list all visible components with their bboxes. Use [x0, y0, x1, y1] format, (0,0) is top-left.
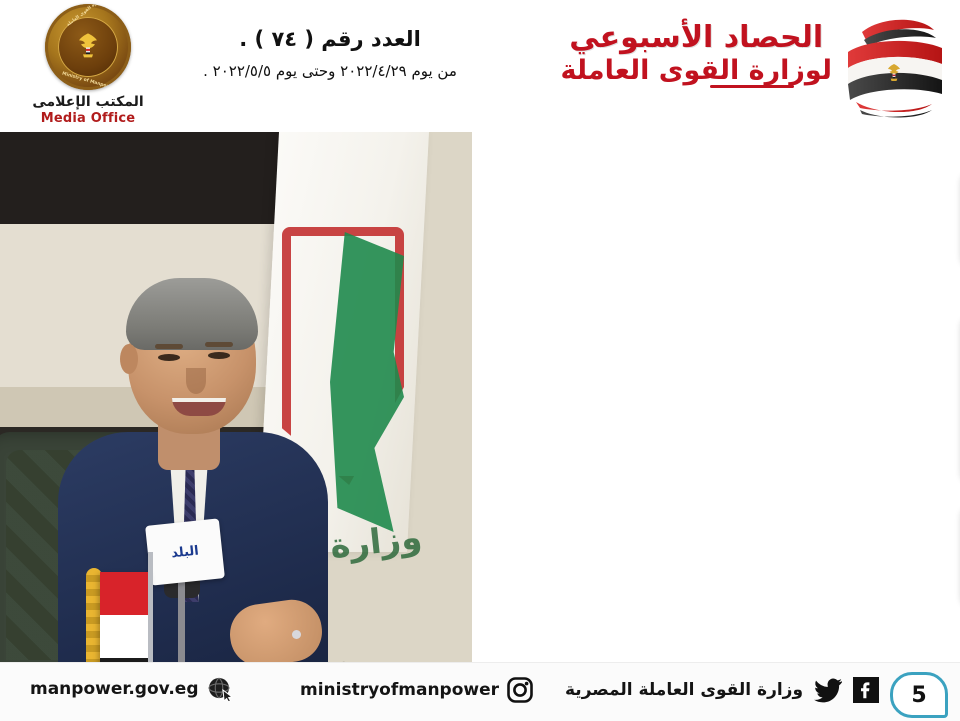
- title-line-2: لوزارة القوى العاملة: [560, 56, 832, 86]
- news-items-list: 7 تحويل ١.١ مليون جنيه مستحقات العمالة ا…: [410, 140, 960, 620]
- media-office-english: Media Office: [18, 111, 158, 126]
- page-number-badge: 5: [890, 672, 948, 718]
- globe-cursor-icon: [207, 677, 235, 701]
- ministry-logo-block: وزارة القوى العاملة Ministry of Manpower…: [18, 4, 158, 135]
- person-nose: [186, 368, 206, 394]
- issue-date-range: من يوم ٢٠٢٢/٤/٢٩ وحتى يوم ٢٠٢٢/٥/٥ .: [160, 62, 500, 80]
- page-title: الحصاد الأسبوعي لوزارة القوى العاملة: [560, 22, 832, 85]
- person-ear: [120, 344, 138, 374]
- instagram-link[interactable]: ministryofmanpower: [300, 677, 533, 703]
- person-brow-left: [155, 344, 183, 349]
- microphone-stand: [178, 577, 185, 662]
- issue-info-block: العدد رقم ( ٧٤ ) . من يوم ٢٠٢٢/٤/٢٩ وحتى…: [160, 26, 500, 80]
- mic-label-albalad: البلد: [171, 543, 200, 561]
- issue-number-text: العدد رقم ( ٧٤ ) .: [160, 26, 500, 52]
- microphone-flag-albalad: البلد: [145, 518, 225, 585]
- media-office-arabic: المكتب الإعلامى: [18, 94, 158, 110]
- seal-ring-text: وزارة القوى العاملة Ministry of Manpower: [45, 4, 131, 90]
- instagram-handle: ministryofmanpower: [300, 680, 499, 700]
- person-brow-right: [205, 342, 233, 347]
- desk-flag-pole: [148, 552, 153, 662]
- egypt-flag-ribbon-globe-icon: [836, 8, 952, 124]
- twitter-icon[interactable]: [813, 677, 843, 703]
- social-pages-name: وزارة القوى العاملة المصرية: [565, 680, 803, 700]
- minister-press-photo: وزارة البلد Live القاهرة: [0, 132, 472, 662]
- infographic-page: وزارة القوى العاملة Ministry of Manpower…: [0, 0, 960, 720]
- page-header: وزارة القوى العاملة Ministry of Manpower…: [0, 0, 960, 132]
- page-footer: manpower.gov.eg ministryofmanpower: [0, 662, 960, 721]
- title-line-1: الحصاد الأسبوعي: [560, 22, 832, 54]
- instagram-icon: [507, 677, 533, 703]
- seal-arabic-text: وزارة القوى العاملة: [66, 4, 103, 28]
- seal-english-text: Ministry of Manpower: [61, 71, 116, 90]
- egypt-desk-flag: [100, 572, 152, 662]
- person-eye-left: [158, 354, 180, 361]
- website-label: manpower.gov.eg: [30, 679, 199, 699]
- social-pages-group[interactable]: وزارة القوى العاملة المصرية: [565, 677, 879, 703]
- website-link[interactable]: manpower.gov.eg: [30, 677, 235, 701]
- person-ring: [292, 630, 301, 639]
- person-eye-right: [208, 352, 230, 359]
- ministry-seal-icon: وزارة القوى العاملة Ministry of Manpower: [45, 4, 131, 90]
- facebook-icon[interactable]: [853, 677, 879, 703]
